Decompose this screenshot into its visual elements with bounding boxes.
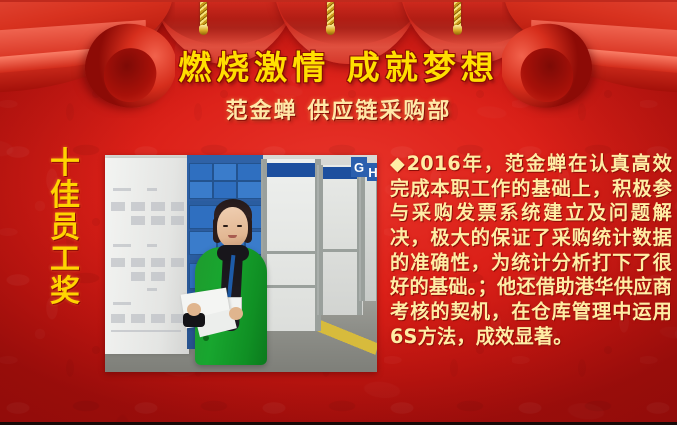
gold-tassel-icon [326, 0, 335, 38]
photo-person-hand [187, 303, 201, 316]
photo-aisle-sign-h: H [367, 163, 377, 181]
photo-aisle-rack-3 [359, 169, 377, 301]
award-char: 员 [45, 212, 85, 244]
photo-aisle-rack-1 [261, 159, 321, 331]
award-char: 十 [45, 148, 85, 180]
award-char: 奖 [45, 276, 85, 308]
photo-person-face [217, 207, 248, 247]
top-border [0, 0, 677, 2]
award-vertical-label: 十 佳 员 工 奖 [45, 148, 85, 308]
award-char: 工 [45, 244, 85, 276]
employee-photo: G H [105, 155, 377, 372]
award-char: 佳 [45, 180, 85, 212]
gold-tassel-icon [199, 0, 208, 38]
photo-person-eye [223, 225, 228, 227]
poster-title: 燃烧激情 成就梦想 [0, 41, 677, 89]
photo-person-eye [237, 225, 242, 227]
achievement-description: ◆2016年，范金蝉在认真高效完成本职工作的基础上，积极参与采购发票系统建立及问… [390, 152, 672, 349]
award-poster: 燃烧激情 成就梦想 范金蝉 供应链采购部 十 佳 员 工 奖 [0, 0, 677, 425]
poster-subtitle: 范金蝉 供应链采购部 [0, 93, 677, 125]
gold-tassel-icon [453, 0, 462, 38]
photo-document-board [105, 158, 189, 354]
photo-aisle-sign-g: G [351, 157, 367, 177]
photo-person-hand [229, 307, 243, 320]
photo-aisle-rack-2 [317, 165, 363, 315]
